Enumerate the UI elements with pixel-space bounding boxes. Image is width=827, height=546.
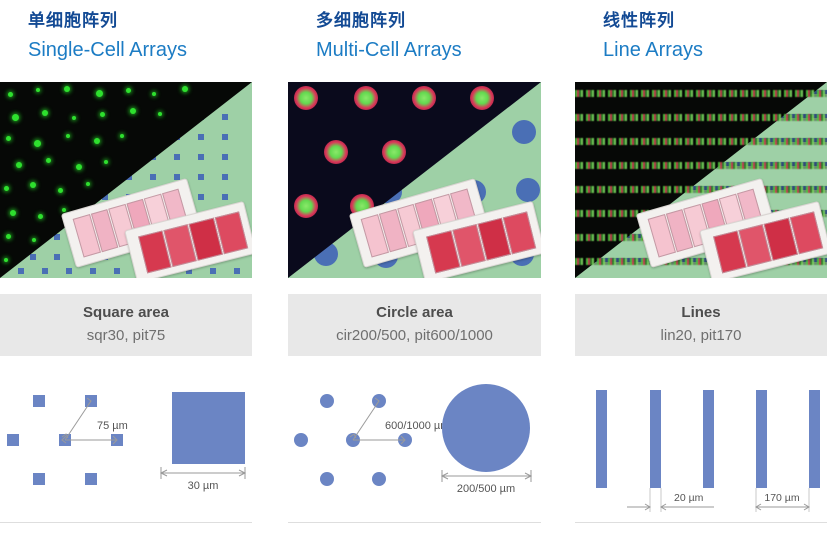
column-header-multi-cell: 多细胞阵列 Multi-Cell Arrays: [288, 0, 541, 82]
label-title: Lines: [681, 303, 720, 323]
label-subtitle: sqr30, pit75: [87, 325, 165, 347]
square-size-swatch: [172, 392, 245, 464]
array-comparison-grid: 单细胞阵列 Single-Cell Arrays: [0, 0, 827, 546]
label-box-square-area: Square area sqr30, pit75: [0, 294, 252, 356]
circle-size-swatch: [442, 384, 530, 472]
column-title-english: Multi-Cell Arrays: [316, 35, 541, 65]
label-title: Square area: [83, 303, 169, 323]
width-dimension-line: [627, 504, 714, 510]
label-box-circle-area: Circle area cir200/500, pit600/1000: [288, 294, 541, 356]
micrograph-multi-cell: [288, 82, 541, 278]
column-header-line: 线性阵列 Line Arrays: [575, 0, 827, 82]
line-bars: [596, 390, 820, 488]
column-multi-cell-arrays: 多细胞阵列 Multi-Cell Arrays: [288, 0, 541, 546]
chamber-slide-illustration: [354, 188, 541, 278]
circle-array-diagram: 600/1000 µm 200/500 µm: [288, 372, 541, 522]
pitch-label: 75 µm: [97, 420, 128, 432]
column-single-cell-arrays: 单细胞阵列 Single-Cell Arrays: [0, 0, 252, 546]
schematic-square-array: 75 µm 30 µm: [0, 372, 252, 523]
line-array-diagram: 20 µm 170 µm: [575, 372, 827, 522]
label-title: Circle area: [376, 303, 453, 323]
schematic-circle-array: 600/1000 µm 200/500 µm: [288, 372, 541, 523]
chamber-slide-illustration: [641, 188, 827, 278]
column-title-chinese: 线性阵列: [603, 10, 827, 32]
column-header-single-cell: 单细胞阵列 Single-Cell Arrays: [0, 0, 252, 82]
label-subtitle: lin20, pit170: [661, 325, 742, 347]
column-line-arrays: 线性阵列 Line Arrays: [575, 0, 827, 546]
label-box-lines: Lines lin20, pit170: [575, 294, 827, 356]
pitch-dimension-line: [756, 504, 809, 510]
column-title-chinese: 多细胞阵列: [316, 10, 541, 32]
column-title-chinese: 单细胞阵列: [28, 10, 252, 32]
column-title-english: Line Arrays: [603, 35, 827, 65]
schematic-line-array: 20 µm 170 µm: [575, 372, 827, 523]
label-subtitle: cir200/500, pit600/1000: [336, 325, 493, 347]
size-dimension-line: [161, 467, 245, 479]
micrograph-line-array: [575, 82, 827, 278]
pitch-label: 170 µm: [764, 492, 799, 504]
size-label: 200/500 µm: [457, 483, 515, 495]
column-title-english: Single-Cell Arrays: [28, 35, 252, 65]
pitch-label: 600/1000 µm: [385, 420, 449, 432]
micrograph-single-cell: [0, 82, 252, 278]
chamber-slide-illustration: [66, 188, 252, 278]
size-label: 20 µm: [674, 492, 704, 504]
square-array-diagram: 75 µm 30 µm: [0, 372, 252, 522]
size-label: 30 µm: [188, 480, 219, 492]
